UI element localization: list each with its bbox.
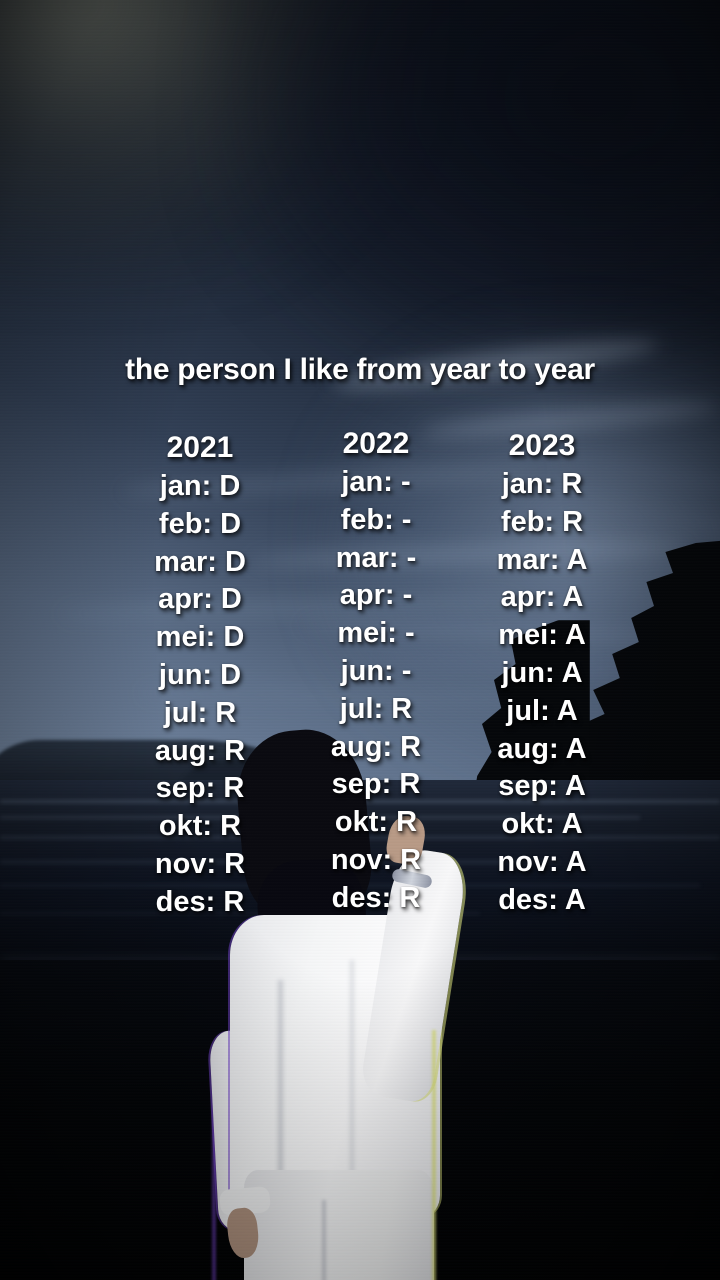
- page-title: the person I like from year to year: [0, 353, 720, 387]
- month-entry: jan: -: [296, 464, 456, 502]
- month-entry: feb: D: [120, 506, 280, 544]
- year-heading: 2022: [296, 424, 456, 464]
- month-entry: sep: A: [462, 768, 622, 806]
- month-entry: jun: D: [120, 657, 280, 695]
- month-entry: des: A: [462, 882, 622, 920]
- month-entry: jan: R: [462, 466, 622, 504]
- month-entry: des: R: [120, 884, 280, 922]
- month-entry: okt: R: [296, 804, 456, 842]
- month-entry: apr: D: [120, 581, 280, 619]
- year-heading: 2021: [120, 428, 280, 468]
- month-entry: mei: -: [296, 615, 456, 653]
- month-entry: apr: -: [296, 577, 456, 615]
- year-column-2023: 2023 jan: R feb: R mar: A apr: A mei: A …: [462, 426, 622, 920]
- month-entry: apr: A: [462, 579, 622, 617]
- month-entry: jun: -: [296, 653, 456, 691]
- month-entry: aug: R: [296, 729, 456, 767]
- month-entry: aug: R: [120, 733, 280, 771]
- month-entry: okt: R: [120, 808, 280, 846]
- screenshot-root: the person I like from year to year 2021…: [0, 0, 720, 1280]
- month-entry: feb: -: [296, 502, 456, 540]
- month-entry: mei: D: [120, 619, 280, 657]
- month-entry: jun: A: [462, 655, 622, 693]
- month-entry: jul: R: [120, 695, 280, 733]
- year-heading: 2023: [462, 426, 622, 466]
- month-entry: nov: R: [296, 842, 456, 880]
- month-entry: feb: R: [462, 504, 622, 542]
- month-entry: jan: D: [120, 468, 280, 506]
- month-entry: sep: R: [120, 770, 280, 808]
- month-entry: nov: R: [120, 846, 280, 884]
- month-entry: nov: A: [462, 844, 622, 882]
- year-column-2021: 2021 jan: D feb: D mar: D apr: D mei: D …: [120, 428, 280, 922]
- month-entry: jul: R: [296, 691, 456, 729]
- month-entry: mar: D: [120, 544, 280, 582]
- month-entry: mar: -: [296, 540, 456, 578]
- year-column-2022: 2022 jan: - feb: - mar: - apr: - mei: - …: [296, 424, 456, 918]
- month-entry: jul: A: [462, 693, 622, 731]
- month-entry: mei: A: [462, 617, 622, 655]
- month-entry: mar: A: [462, 542, 622, 580]
- month-entry: aug: A: [462, 731, 622, 769]
- text-overlay: the person I like from year to year 2021…: [0, 0, 720, 1280]
- month-entry: des: R: [296, 880, 456, 918]
- month-entry: okt: A: [462, 806, 622, 844]
- month-entry: sep: R: [296, 766, 456, 804]
